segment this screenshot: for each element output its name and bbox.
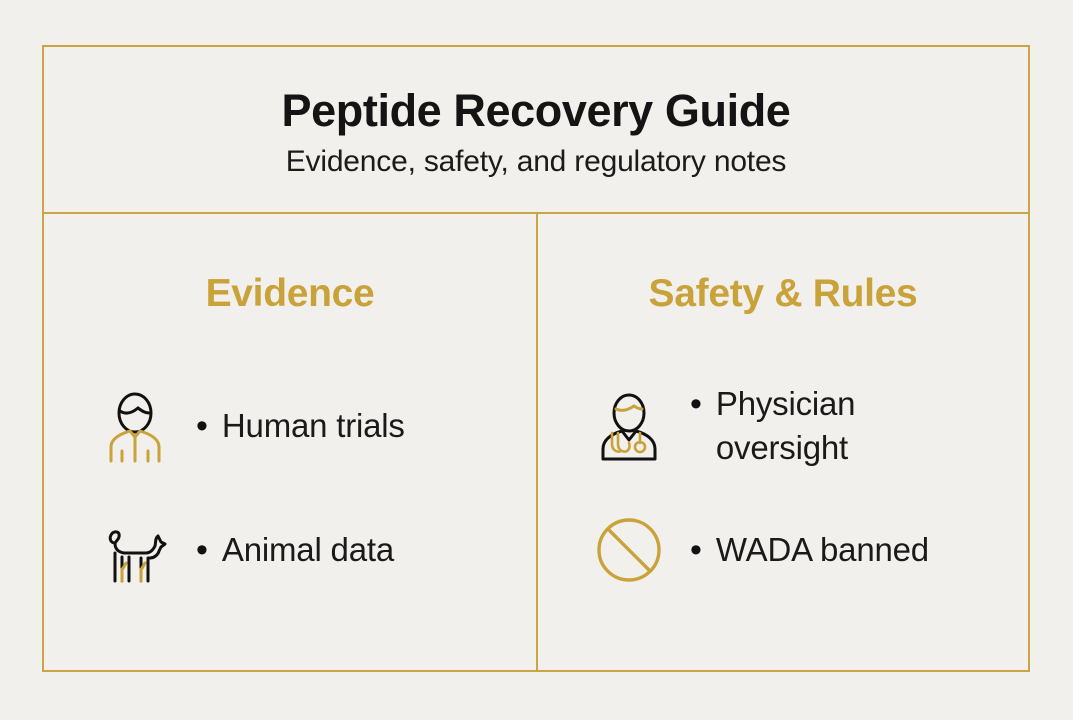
list-item: • Human trials (96, 378, 536, 474)
list-item: • WADA banned (590, 502, 1028, 598)
bullet-line: • Animal data (196, 528, 394, 572)
page-subtitle: Evidence, safety, and regulatory notes (286, 145, 786, 178)
bullet-line: • Human trials (196, 404, 405, 448)
doctor-icon (590, 387, 668, 465)
column-safety-rules: Safety & Rules (536, 214, 1028, 670)
person-icon (96, 387, 174, 465)
column-heading-evidence: Evidence (206, 272, 375, 316)
column-evidence: Evidence (44, 214, 536, 670)
list-item: • Physician oversight (590, 378, 1028, 474)
evidence-item-list: • Human trials • Animal data (44, 378, 536, 598)
bullet-line: • WADA banned (690, 528, 929, 572)
list-item-label: Physician oversight (716, 382, 941, 470)
bullet-marker: • (196, 404, 208, 448)
bullet-line: • Physician oversight (690, 382, 941, 470)
dog-icon (96, 511, 174, 589)
bullet-marker: • (690, 382, 702, 426)
guide-poster: Peptide Recovery Guide Evidence, safety,… (42, 45, 1030, 672)
prohibition-icon (590, 511, 668, 589)
poster-columns: Evidence (44, 214, 1028, 670)
column-heading-safety: Safety & Rules (649, 272, 918, 316)
page-title: Peptide Recovery Guide (282, 87, 791, 134)
bullet-marker: • (196, 528, 208, 572)
poster-header: Peptide Recovery Guide Evidence, safety,… (44, 47, 1028, 214)
safety-item-list: • Physician oversight • WADA banned (538, 378, 1028, 598)
list-item-label: Human trials (222, 404, 405, 448)
list-item-label: Animal data (222, 528, 394, 572)
bullet-marker: • (690, 528, 702, 572)
list-item-label: WADA banned (716, 528, 929, 572)
list-item: • Animal data (96, 502, 536, 598)
